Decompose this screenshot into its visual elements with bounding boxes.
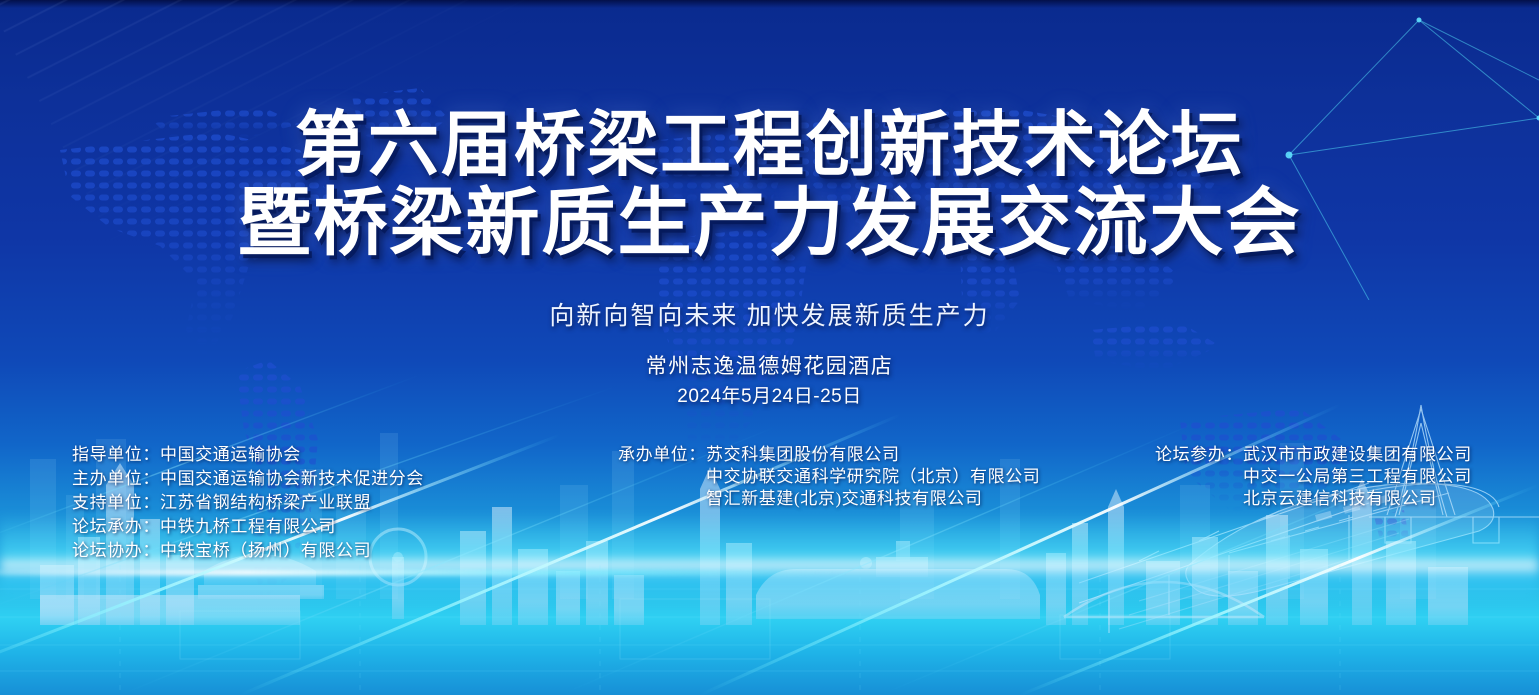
venue-info: 常州志逸温德姆花园酒店 2024年5月24日-25日 [0, 351, 1539, 411]
sponsor-value: 江苏省钢结构桥梁产业联盟 [160, 492, 371, 514]
sponsor-row: 承办单位： 苏交科集团股份有限公司 中交协联交通科学研究院（北京）有限公司 智汇… [618, 444, 1040, 510]
sponsor-value: 武汉市市政建设集团有限公司 [1243, 444, 1472, 466]
sponsor-value: 中交一公局第三工程有限公司 [1243, 466, 1472, 488]
sponsor-row: 论坛参办： 武汉市市政建设集团有限公司 中交一公局第三工程有限公司 北京云建信科… [1155, 444, 1472, 510]
banner-content: 第六届桥梁工程创新技术论坛 暨桥梁新质生产力发展交流大会 向新向智向未来 加快发… [0, 0, 1539, 695]
sponsor-label: 支持单位： [72, 492, 160, 514]
sponsor-values: 江苏省钢结构桥梁产业联盟 [160, 492, 371, 514]
sponsor-values: 苏交科集团股份有限公司 中交协联交通科学研究院（北京）有限公司 智汇新基建(北京… [706, 444, 1040, 510]
sponsor-value: 智汇新基建(北京)交通科技有限公司 [706, 488, 1040, 510]
sponsor-label: 论坛参办： [1155, 444, 1243, 466]
sponsor-label: 论坛承办： [72, 516, 160, 538]
sponsor-section: 指导单位： 中国交通运输协会 主办单位： 中国交通运输协会新技术促进分会 支持单… [0, 444, 1539, 574]
sponsor-value: 中铁宝桥（扬州）有限公司 [160, 540, 371, 562]
sponsor-value: 中国交通运输协会新技术促进分会 [160, 468, 424, 490]
sponsor-column-right: 论坛参办： 武汉市市政建设集团有限公司 中交一公局第三工程有限公司 北京云建信科… [1155, 444, 1472, 512]
sponsor-label: 指导单位： [72, 444, 160, 466]
venue-place: 常州志逸温德姆花园酒店 [646, 354, 894, 378]
sponsor-row: 指导单位： 中国交通运输协会 [72, 444, 424, 466]
sponsor-row: 主办单位： 中国交通运输协会新技术促进分会 [72, 468, 424, 490]
banner-subtitle: 向新向智向未来 加快发展新质生产力 [0, 296, 1539, 332]
sponsor-values: 中国交通运输协会新技术促进分会 [160, 468, 424, 490]
sponsor-value: 中国交通运输协会 [160, 444, 301, 466]
title-line-2: 暨桥梁新质生产力发展交流大会 [0, 188, 1539, 261]
sponsor-values: 武汉市市政建设集团有限公司 中交一公局第三工程有限公司 北京云建信科技有限公司 [1243, 444, 1472, 510]
sponsor-value: 北京云建信科技有限公司 [1243, 488, 1472, 510]
venue-date: 2024年5月24日-25日 [0, 383, 1539, 411]
conference-banner: 第六届桥梁工程创新技术论坛 暨桥梁新质生产力发展交流大会 向新向智向未来 加快发… [0, 0, 1539, 695]
sponsor-row: 支持单位： 江苏省钢结构桥梁产业联盟 [72, 492, 424, 514]
sponsor-values: 中铁九桥工程有限公司 [160, 516, 336, 538]
sponsor-row: 论坛协办： 中铁宝桥（扬州）有限公司 [72, 540, 424, 562]
sponsor-value: 中交协联交通科学研究院（北京）有限公司 [706, 466, 1040, 488]
sponsor-row: 论坛承办： 中铁九桥工程有限公司 [72, 516, 424, 538]
sponsor-value: 苏交科集团股份有限公司 [706, 444, 1040, 466]
banner-title: 第六届桥梁工程创新技术论坛 暨桥梁新质生产力发展交流大会 [0, 112, 1539, 260]
sponsor-column-left: 指导单位： 中国交通运输协会 主办单位： 中国交通运输协会新技术促进分会 支持单… [72, 444, 424, 564]
sponsor-value: 中铁九桥工程有限公司 [160, 516, 336, 538]
sponsor-label: 主办单位： [72, 468, 160, 490]
sponsor-label: 承办单位： [618, 444, 706, 466]
title-line-1: 第六届桥梁工程创新技术论坛 [0, 112, 1539, 182]
sponsor-label: 论坛协办： [72, 540, 160, 562]
sponsor-values: 中国交通运输协会 [160, 444, 301, 466]
sponsor-column-middle: 承办单位： 苏交科集团股份有限公司 中交协联交通科学研究院（北京）有限公司 智汇… [618, 444, 1040, 512]
sponsor-values: 中铁宝桥（扬州）有限公司 [160, 540, 371, 562]
